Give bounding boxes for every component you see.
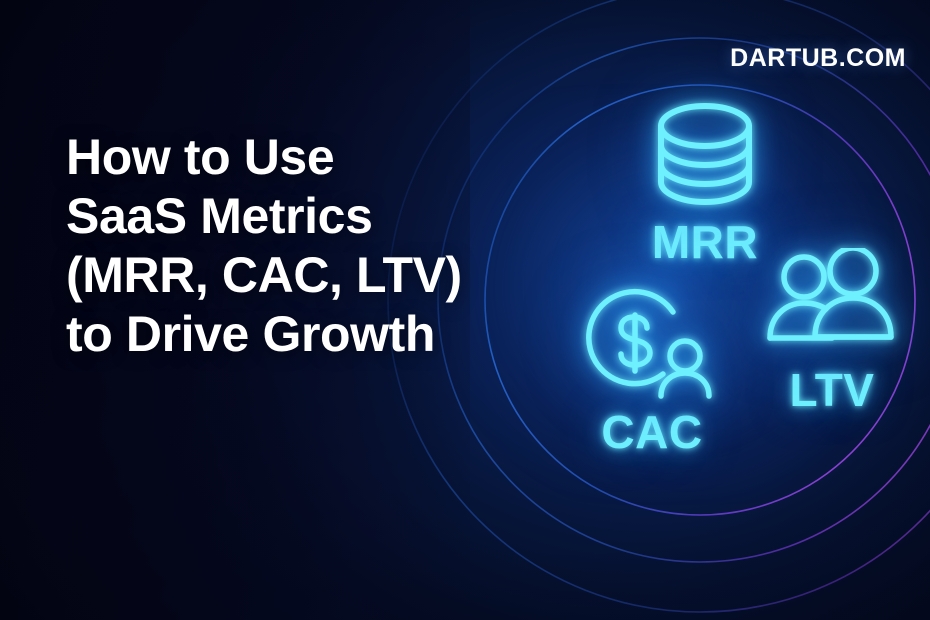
metric-cac-label: CAC (562, 409, 742, 455)
metric-ltv: LTV (742, 248, 922, 413)
title-line-1: How to Use (66, 128, 516, 187)
two-people-icon (742, 248, 922, 365)
database-cylinder-icon (600, 100, 810, 213)
title-line-2: SaaS Metrics (66, 187, 516, 246)
dollar-circle-person-icon (562, 282, 742, 407)
site-logo[interactable]: DARTUB.COM (730, 44, 906, 73)
title-line-3: (MRR, CAC, LTV) (66, 246, 516, 305)
hero-banner: DARTUB.COM How to Use SaaS Metrics (MRR,… (0, 0, 930, 620)
metric-ltv-label: LTV (742, 367, 922, 413)
metric-cac: CAC (562, 282, 742, 455)
title-line-4: to Drive Growth (66, 305, 516, 364)
metric-mrr: MRR (600, 100, 810, 265)
page-title: How to Use SaaS Metrics (MRR, CAC, LTV) … (66, 128, 516, 364)
